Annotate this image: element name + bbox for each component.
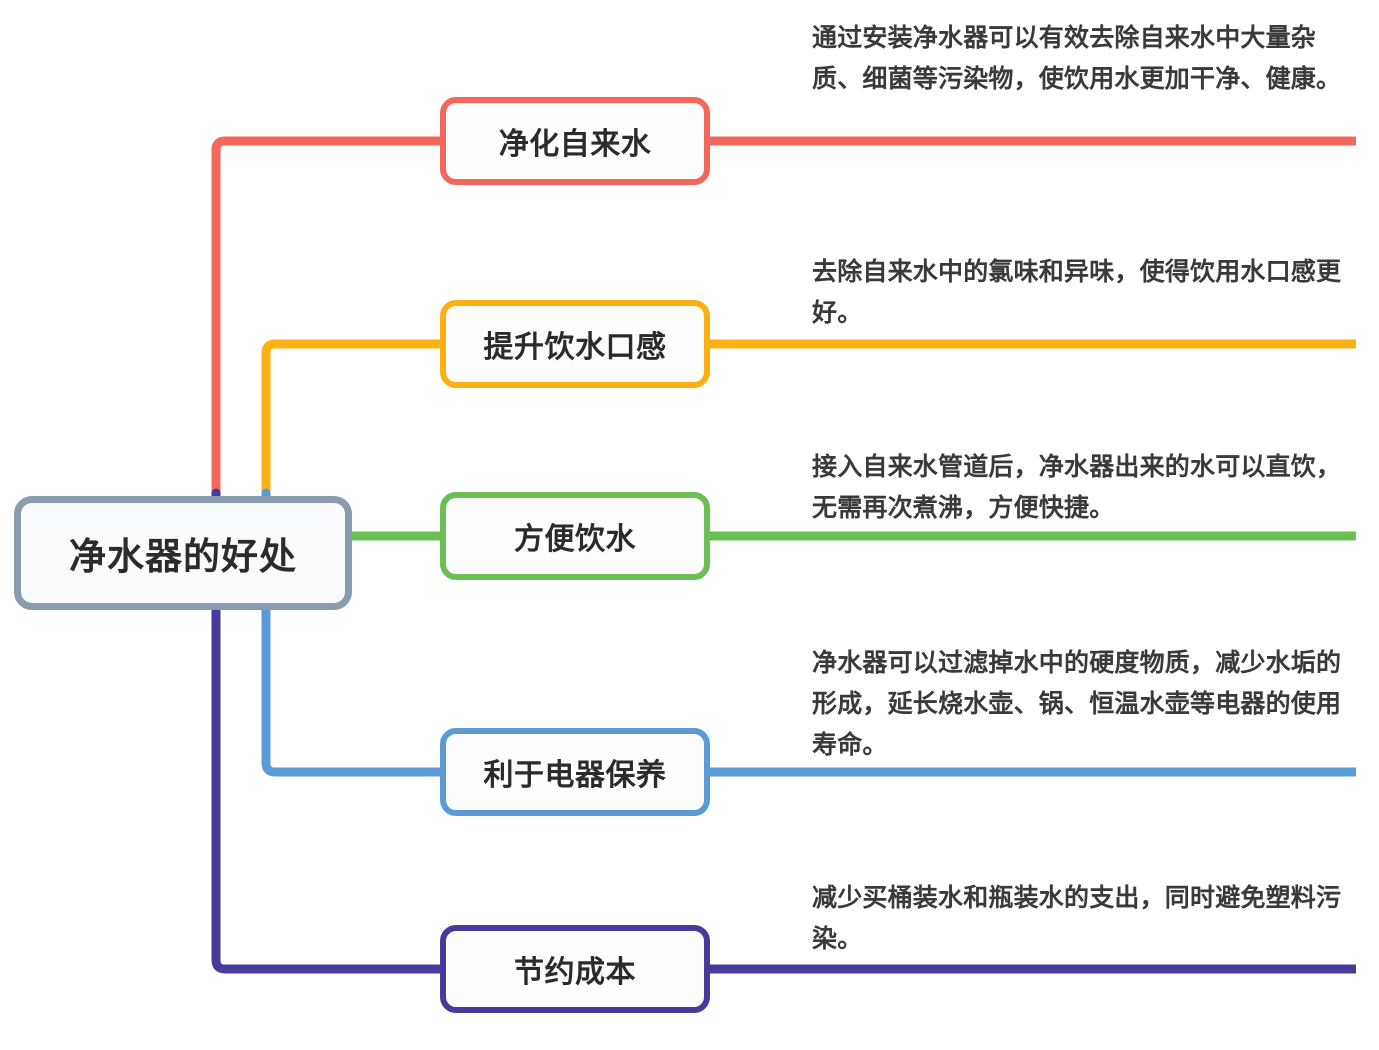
branch-node-label: 提升饮水口感 xyxy=(484,322,667,366)
branch-detail-appliance-care: 净水器可以过滤掉水中的硬度物质，减少水垢的形成，延长烧水壶、锅、恒温水壶等电器的… xyxy=(812,643,1364,766)
branch-node-label: 净化自来水 xyxy=(499,119,652,163)
branch-node-appliance-care[interactable]: 利于电器保养 xyxy=(440,728,710,816)
branch-node-purify[interactable]: 净化自来水 xyxy=(440,97,710,185)
branch-detail-convenience: 接入自来水管道后，净水器出来的水可以直饮，无需再次煮沸，方便快捷。 xyxy=(812,447,1364,529)
branch-node-label: 方便饮水 xyxy=(514,514,636,558)
branch-node-convenience[interactable]: 方便饮水 xyxy=(440,492,710,580)
branch-detail-taste: 去除自来水中的氯味和异味，使得饮用水口感更好。 xyxy=(812,252,1364,334)
mindmap-canvas: 净水器的好处 净化自来水 通过安装净水器可以有效去除自来水中大量杂质、细菌等污染… xyxy=(0,0,1379,1050)
branch-node-cost-saving[interactable]: 节约成本 xyxy=(440,925,710,1013)
branch-detail-cost-saving: 减少买桶装水和瓶装水的支出，同时避免塑料污染。 xyxy=(812,878,1364,960)
branch-detail-purify: 通过安装净水器可以有效去除自来水中大量杂质、细菌等污染物，使饮用水更加干净、健康… xyxy=(812,18,1364,100)
branch-node-label: 节约成本 xyxy=(514,947,636,991)
root-node[interactable]: 净水器的好处 xyxy=(14,496,352,610)
branch-node-label: 利于电器保养 xyxy=(484,750,667,794)
branch-node-taste[interactable]: 提升饮水口感 xyxy=(440,300,710,388)
root-node-label: 净水器的好处 xyxy=(69,526,297,580)
